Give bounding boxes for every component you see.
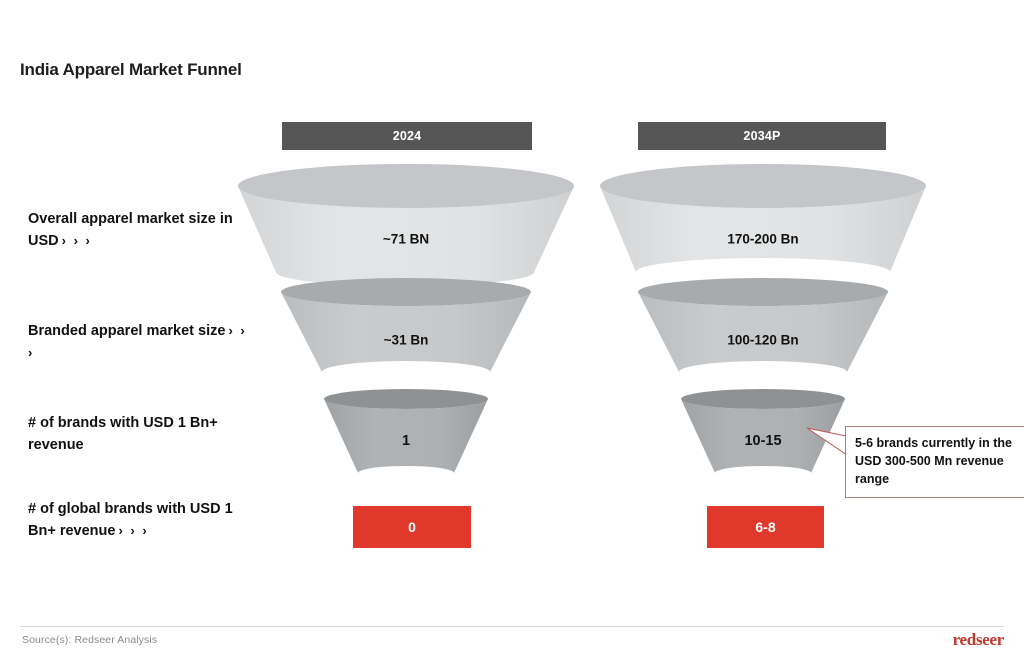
- funnel-value-2024-brands: 1: [402, 433, 410, 449]
- chevron-right-icon: › › ›: [115, 523, 148, 538]
- chevron-right-icon: [84, 437, 87, 452]
- redseer-logo: redseer: [953, 630, 1004, 650]
- funnel-value-2024-overall: ~71 BN: [383, 232, 429, 247]
- funnel-value-2034p-brands: 10-15: [744, 433, 781, 449]
- row-label-branded-apparel-market: Branded apparel market size› › ›: [28, 320, 258, 365]
- row-label-global-brands-usd-1bn: # of global brands with USD 1 Bn+ revenu…: [28, 498, 258, 543]
- column-header-2024: 2024: [282, 122, 532, 150]
- funnel-segment-2024-brands: [324, 389, 488, 473]
- footer-divider: [20, 626, 1004, 627]
- callout-box: 5-6 brands currently in the USD 300-500 …: [845, 426, 1024, 498]
- funnel-segment-2024-overall: [238, 164, 574, 286]
- funnel-segment-2034p-branded: [638, 278, 888, 372]
- funnel-segment-2024-branded: [281, 278, 531, 372]
- row-label-text: # of brands with USD 1 Bn+ revenue: [28, 415, 218, 453]
- global-brands-box-2024: 0: [353, 506, 471, 548]
- source-note: Source(s): Redseer Analysis: [22, 634, 157, 646]
- chevron-right-icon: › › ›: [59, 233, 92, 248]
- global-brands-box-2034p: 6-8: [707, 506, 824, 548]
- column-header-2034p: 2034P: [638, 122, 886, 150]
- page-title: India Apparel Market Funnel: [20, 60, 242, 80]
- funnel-segment-2034p-overall: [600, 164, 926, 272]
- funnel-value-2034p-branded: 100-120 Bn: [727, 333, 798, 348]
- row-label-overall-apparel-market: Overall apparel market size in USD› › ›: [28, 208, 258, 253]
- row-label-text: Branded apparel market size: [28, 323, 225, 339]
- row-label-brands-usd-1bn: # of brands with USD 1 Bn+ revenue: [28, 412, 258, 457]
- funnel-value-2034p-overall: 170-200 Bn: [727, 232, 798, 247]
- funnel-value-2024-branded: ~31 Bn: [384, 333, 429, 348]
